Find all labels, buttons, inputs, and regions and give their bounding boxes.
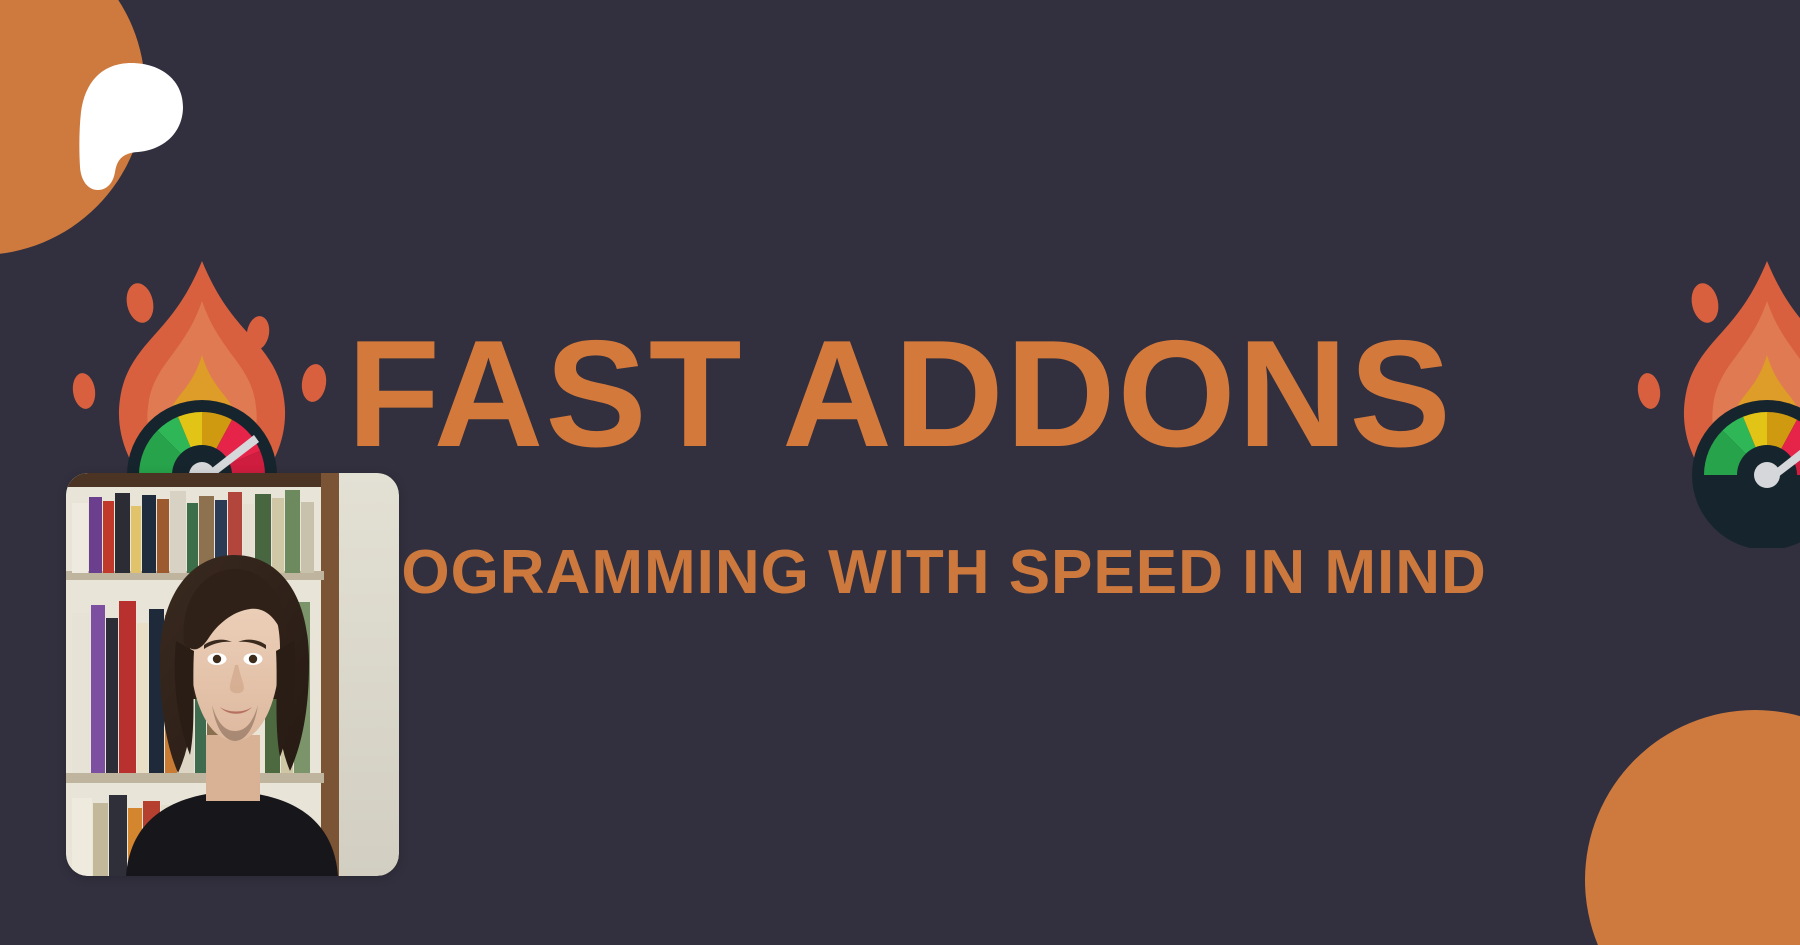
- creator-banner: FAST ADDONS PROGRAMMING WITH SPEED IN MI…: [0, 0, 1800, 945]
- flame-speedometer-icon-right: [1627, 243, 1800, 548]
- avatar[interactable]: [66, 473, 399, 876]
- patreon-logo-icon[interactable]: [78, 60, 186, 192]
- orange-corner-circle-bottom-right: [1585, 710, 1800, 945]
